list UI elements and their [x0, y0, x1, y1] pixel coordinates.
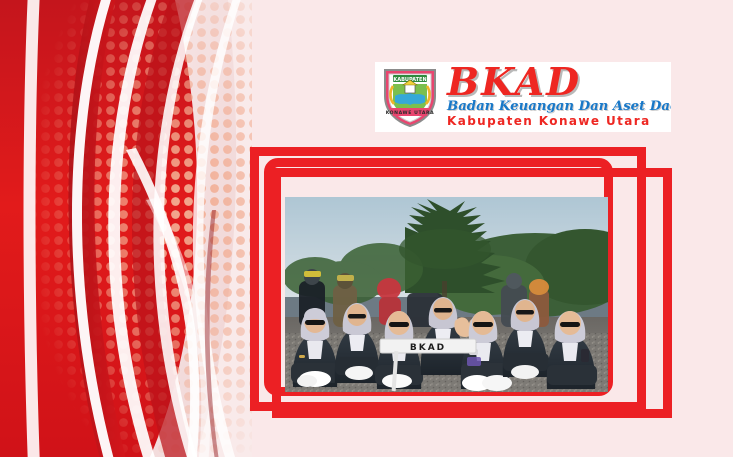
red-swoosh-decoration [0, 0, 252, 457]
logo-long-name: Badan Keuangan Dan Aset Daerah [447, 100, 671, 113]
poster-canvas: KABUPATEN KONAWE UTARA BKAD Badan Keuang… [0, 0, 733, 457]
logo-acronym: BKAD [447, 63, 581, 101]
logo-region-name: Kabupaten Konawe Utara [447, 115, 651, 127]
kabupaten-crest-emblem: KABUPATEN KONAWE UTARA [381, 66, 439, 128]
group-photo: BKAD [285, 197, 608, 392]
logo-wordmark: BKAD Badan Keuangan Dan Aset Daerah Kabu… [445, 64, 671, 130]
bkad-logo-banner: KABUPATEN KONAWE UTARA BKAD Badan Keuang… [375, 62, 671, 132]
svg-text:BKAD: BKAD [410, 343, 446, 353]
svg-text:KONAWE UTARA: KONAWE UTARA [386, 110, 435, 116]
